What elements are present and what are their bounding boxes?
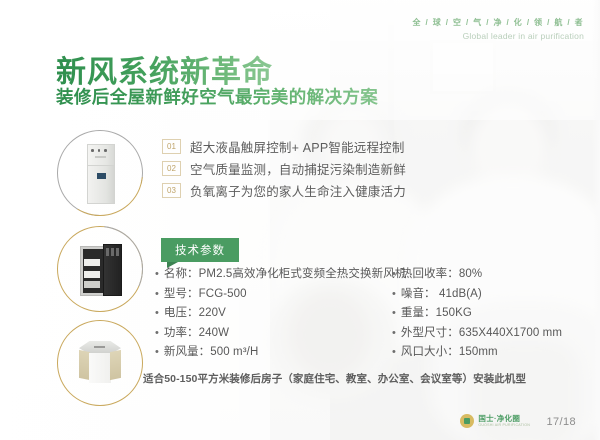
- unit-control-dots: [91, 149, 107, 152]
- page-subtitle: 装修后全屋新鲜好空气最完美的解决方案: [56, 84, 378, 109]
- page-number: 17/18: [546, 416, 576, 428]
- spec-value: 新风量：500 m³/H: [164, 343, 259, 359]
- spec-value: 噪音： 41dB(A): [401, 285, 482, 301]
- list-item: 01 超大液晶触屏控制+ APP智能远程控制: [162, 136, 406, 157]
- list-item: • 噪音： 41dB(A): [392, 285, 562, 305]
- unit-body-panel: [87, 165, 115, 204]
- tagline-english: Global leader in air purification: [412, 31, 584, 41]
- unit-filter-module: [84, 259, 100, 266]
- brand-logo-icon: [460, 414, 474, 428]
- list-item: • 名称：PM2.5高效净化柜式变频全热交换新风机: [155, 265, 406, 285]
- bullet-icon: •: [392, 328, 396, 339]
- dot-icon: [98, 149, 101, 152]
- product-circle-hexagonal-unit: [57, 320, 143, 406]
- list-item: • 重量：150KG: [392, 304, 562, 324]
- applicability-note: 适合50-150平方米装修后房子（家庭住宅、教室、办公室、会议室等）安装此机型: [143, 371, 526, 386]
- dot-icon: [91, 149, 94, 152]
- hex-unit-logo-mark: [94, 346, 105, 348]
- unit-filter-module: [84, 271, 100, 278]
- list-item: • 风口大小：150mm: [392, 343, 562, 363]
- feature-label: 负氧离子为您的家人生命注入健康活力: [190, 181, 406, 200]
- bullet-icon: •: [392, 269, 396, 280]
- unit-lcd-screen: [97, 173, 106, 179]
- photo-right-edge: [592, 0, 600, 440]
- tech-params-label: 技术参数: [161, 238, 239, 262]
- feature-badge: 02: [162, 161, 181, 176]
- product-circle-cabinet-unit-open: [57, 226, 143, 312]
- unit-logo-mark: [95, 156, 106, 158]
- hex-unit-front-face: [89, 353, 111, 383]
- brand-name-chinese: 国士·净化圈: [478, 415, 530, 423]
- product-image-cabinet-unit-front: [57, 130, 143, 216]
- slide-canvas: 全 / 球 / 空 / 气 / 净 / 化 / 领 / 航 / 者 Global…: [0, 0, 600, 440]
- tagline-chinese: 全 / 球 / 空 / 气 / 净 / 化 / 领 / 航 / 者: [412, 17, 584, 28]
- vent-slot: [116, 248, 119, 256]
- product-image-hexagonal-unit: [57, 320, 143, 406]
- list-item: 02 空气质量监测，自动捕捉污染制造新鲜: [162, 158, 406, 179]
- brand-name-english: GUOSHI AIR PURIFICATION: [478, 424, 530, 428]
- spec-value: 热回收率：80%: [401, 265, 482, 281]
- bullet-icon: •: [392, 289, 396, 300]
- bullet-icon: •: [155, 347, 159, 358]
- spec-value: 电压：220V: [164, 304, 226, 320]
- feature-label: 空气质量监测，自动捕捉污染制造新鲜: [190, 159, 406, 178]
- list-item: • 热回收率：80%: [392, 265, 562, 285]
- spec-value: 名称：PM2.5高效净化柜式变频全热交换新风机: [164, 265, 407, 281]
- vent-slot: [106, 248, 109, 256]
- list-item: • 电压：220V: [155, 304, 406, 324]
- spec-value: 功率：240W: [164, 324, 229, 340]
- unit-filter-module: [84, 281, 100, 288]
- list-item: • 新风量：500 m³/H: [155, 343, 406, 363]
- list-item: • 外型尺寸：635X440X1700 mm: [392, 324, 562, 344]
- feature-list: 01 超大液晶触屏控制+ APP智能远程控制 02 空气质量监测，自动捕捉污染制…: [162, 136, 406, 202]
- spec-list-right: • 热回收率：80% • 噪音： 41dB(A) • 重量：150KG • 外型…: [392, 265, 562, 363]
- bullet-icon: •: [392, 347, 396, 358]
- feature-badge: 03: [162, 183, 181, 198]
- spec-value: 风口大小：150mm: [401, 343, 498, 359]
- hex-unit-right-face: [110, 350, 121, 380]
- list-item: • 型号：FCG-500: [155, 285, 406, 305]
- product-circle-cabinet-unit-front: [57, 130, 143, 216]
- unit-vent-grille: [106, 248, 119, 256]
- vent-slot: [111, 248, 114, 256]
- brand-wordmark: 国士·净化圈 GUOSHI AIR PURIFICATION: [478, 415, 530, 428]
- spec-value: 外型尺寸：635X440X1700 mm: [401, 324, 562, 340]
- bullet-icon: •: [392, 308, 396, 319]
- list-item: • 功率：240W: [155, 324, 406, 344]
- spec-value: 重量：150KG: [401, 304, 472, 320]
- tech-params-banner: 技术参数: [161, 238, 239, 262]
- bullet-icon: •: [155, 269, 159, 280]
- bullet-icon: •: [155, 289, 159, 300]
- product-image-cabinet-unit-open: [57, 226, 143, 312]
- bullet-icon: •: [155, 328, 159, 339]
- bullet-icon: •: [155, 308, 159, 319]
- header-tagline: 全 / 球 / 空 / 气 / 净 / 化 / 领 / 航 / 者 Global…: [412, 17, 584, 41]
- spec-list-left: • 名称：PM2.5高效净化柜式变频全热交换新风机 • 型号：FCG-500 •…: [155, 265, 406, 363]
- footer-logo: 国士·净化圈 GUOSHI AIR PURIFICATION: [460, 414, 530, 428]
- feature-badge: 01: [162, 139, 181, 154]
- unit-top-panel: [87, 144, 115, 167]
- feature-label: 超大液晶触屏控制+ APP智能远程控制: [190, 137, 405, 156]
- dot-icon: [104, 149, 107, 152]
- unit-open-door-panel: [103, 244, 122, 296]
- list-item: 03 负氧离子为您的家人生命注入健康活力: [162, 180, 406, 201]
- spec-value: 型号：FCG-500: [164, 285, 247, 301]
